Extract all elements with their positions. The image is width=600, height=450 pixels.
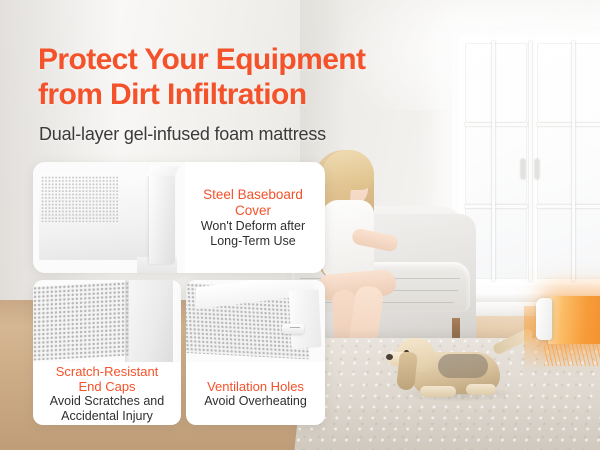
card-title: Steel Baseboard Cover [189, 187, 317, 219]
ventilation-mounting-clip [282, 324, 304, 334]
feature-card-ventilation-holes[interactable]: Ventilation Holes Avoid Overheating [186, 280, 325, 425]
promo-banner: Protect Your Equipment from Dirt Infiltr… [0, 0, 600, 450]
window-mullion-h2 [465, 205, 527, 208]
window-handle-left[interactable] [521, 159, 525, 179]
window-pane-right [537, 43, 600, 279]
card-title: Ventilation Holes [207, 379, 304, 394]
card-text-block: Ventilation Holes Avoid Overheating [186, 362, 325, 425]
sofa-leg-right [452, 318, 460, 340]
card-subtitle: Avoid Overheating [204, 394, 307, 409]
cover-perforation-mesh [41, 176, 119, 222]
window-mullion-v1 [492, 41, 495, 281]
cover-top-bevel [144, 166, 179, 176]
dog-back-patch [438, 354, 488, 378]
end-cap-perforation-mesh [33, 281, 129, 360]
window-mullion-h4 [537, 205, 600, 208]
cover-end-cap [149, 168, 175, 264]
dog-hind-paw [466, 384, 496, 395]
end-cap-surface [129, 280, 173, 362]
ventilation-holes-closeup-photo [186, 280, 325, 362]
heater-glow-panel [548, 296, 600, 344]
ventilation-end-cap [289, 289, 322, 348]
feature-card-steel-baseboard-cover[interactable]: Steel Baseboard Cover Won't Deform after… [33, 162, 325, 273]
dog-front-paw [420, 386, 456, 397]
window-mullion-v2 [572, 41, 575, 281]
baseboard-cover-product-photo [33, 162, 185, 273]
card-subtitle-line-2: Long-Term Use [210, 234, 295, 249]
card-title-line-2: End Caps [78, 379, 135, 394]
headline-line-1: Protect Your Equipment [38, 43, 365, 76]
card-title-line-1: Scratch-Resistant [56, 364, 159, 379]
window-handle-right[interactable] [535, 159, 539, 179]
heater-end-cap [536, 298, 552, 340]
headline: Protect Your Equipment from Dirt Infiltr… [38, 42, 458, 112]
end-cap-closeup-photo [33, 280, 181, 362]
subheadline: Dual-layer gel-infused foam mattress [39, 122, 326, 146]
headline-line-2: from Dirt Infiltration [38, 77, 458, 112]
window-mullion-h1 [465, 123, 527, 126]
window-mullion-center [529, 41, 532, 281]
card-text-block: Scratch-Resistant End Caps Avoid Scratch… [33, 362, 181, 425]
card-text-block: Steel Baseboard Cover Won't Deform after… [185, 162, 325, 273]
ventilation-clip-detail [290, 327, 300, 328]
card-subtitle-line-1: Won't Deform after [201, 219, 305, 234]
window-mullion-h3 [537, 123, 600, 126]
dog-nose [386, 354, 393, 360]
feature-card-scratch-resistant-end-caps[interactable]: Scratch-Resistant End Caps Avoid Scratch… [33, 280, 181, 425]
card-subtitle-line-2: Accidental Injury [61, 409, 153, 424]
card-subtitle-line-1: Avoid Scratches and [50, 394, 164, 409]
